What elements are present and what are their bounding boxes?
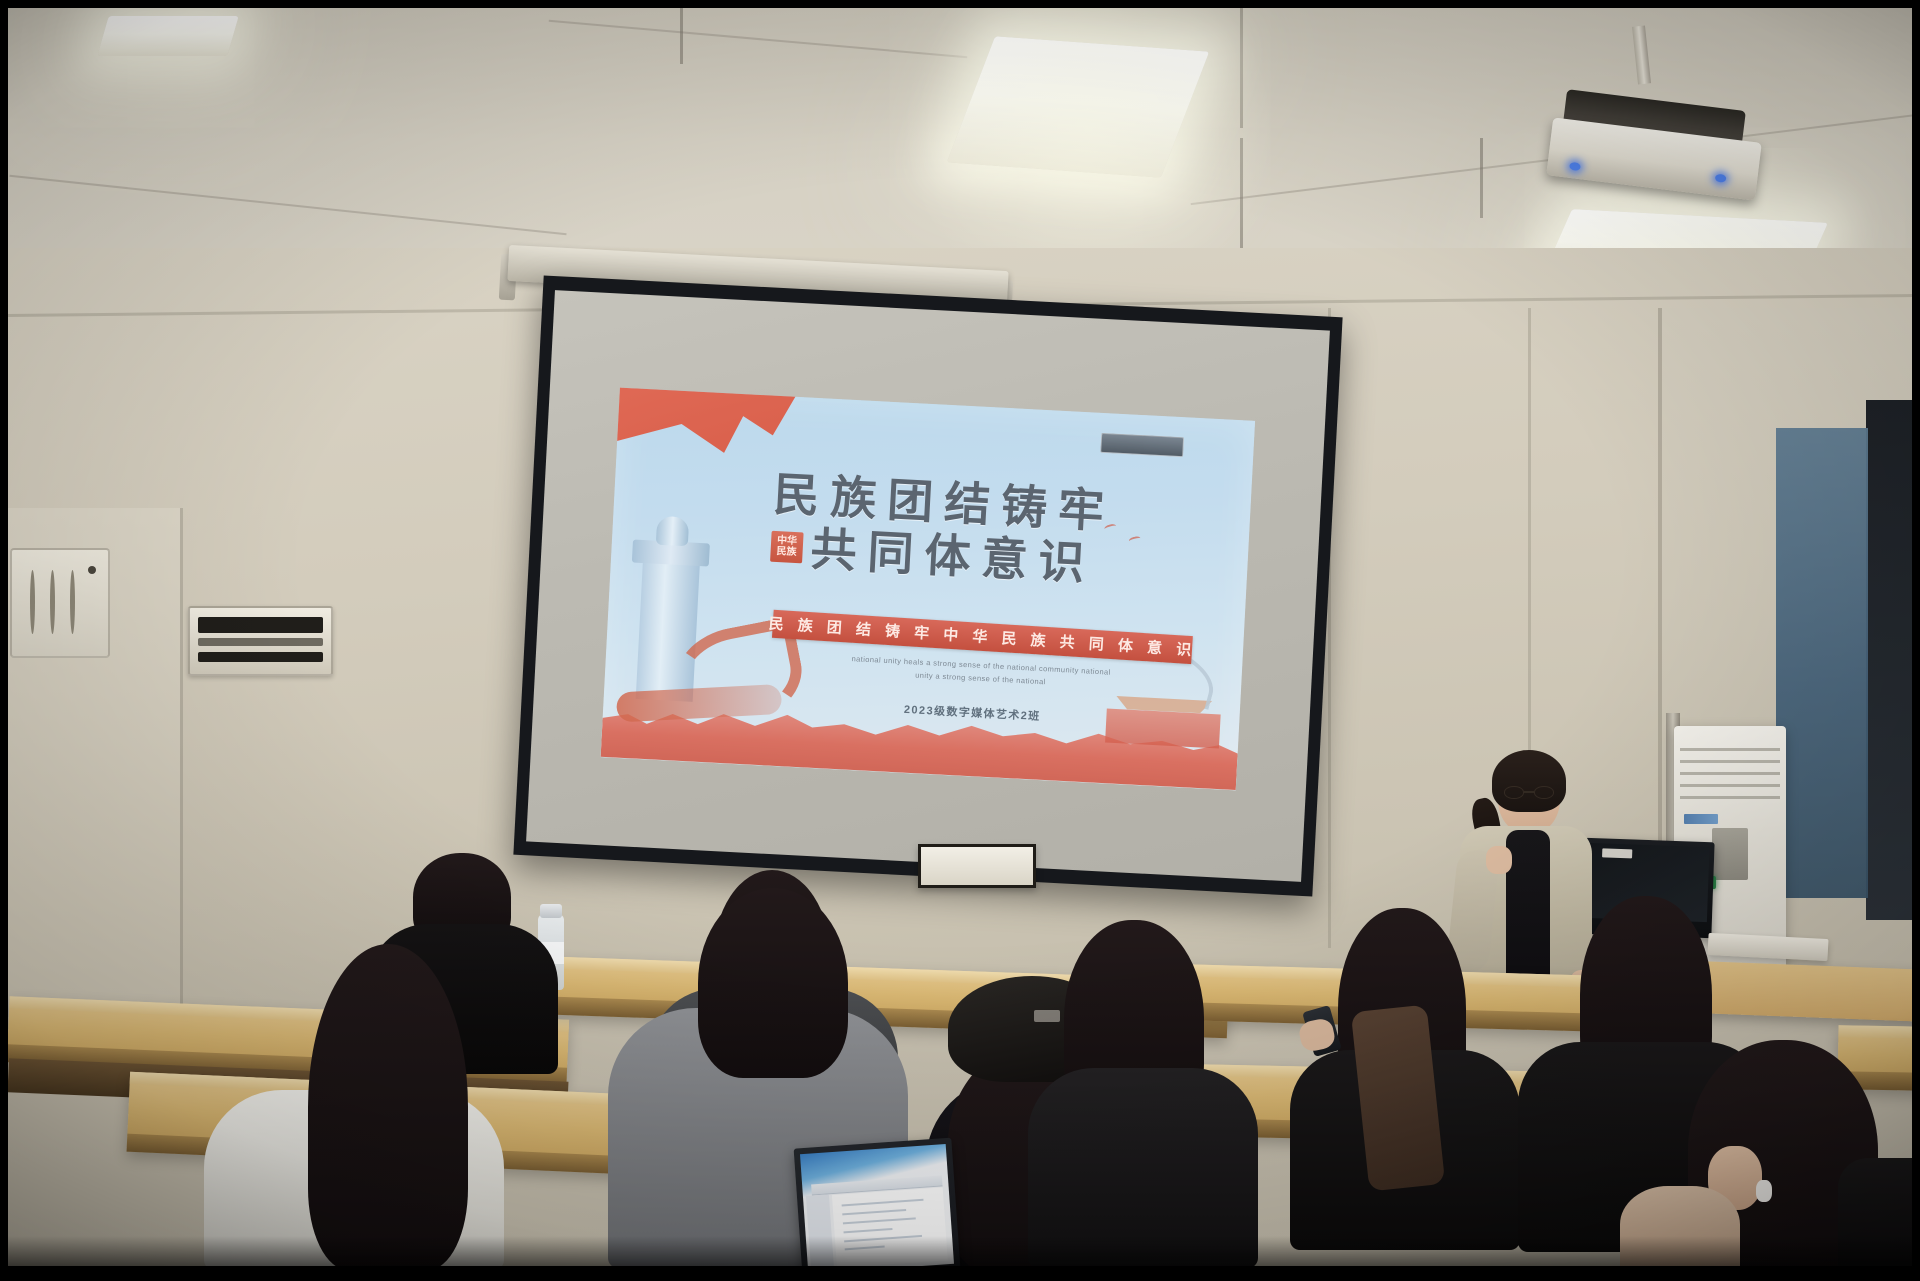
ac-vent [1680,796,1780,799]
glasses-lens-right [1534,786,1554,799]
glasses-icon [1504,786,1554,799]
doc-line [842,1199,924,1207]
projected-slide: 民族团结铸牢 中华 民族 共同体意识 民 族 团 结 铸 牢 中 华 民 族 共… [600,387,1255,790]
wall-control-panel[interactable] [188,606,333,676]
ac-vent [1680,748,1780,751]
control-slot [198,617,323,633]
ac-vent [1680,760,1780,763]
bottle-cap [540,904,562,918]
wall-sign [10,548,110,658]
wave-icon [30,570,35,634]
monitor-brand-label [1602,848,1632,858]
doc-line [844,1228,893,1233]
wall-poster [918,844,1036,888]
control-slot [198,638,323,646]
desk-edge [1838,1025,1912,1039]
wave-icon [70,570,75,634]
projector-led-icon [1569,162,1581,171]
ceiling-light [97,16,238,56]
presenter-hair [1492,750,1566,812]
wave-icon [50,570,55,634]
projection-screen: 民族团结铸牢 中华 民族 共同体意识 民 族 团 结 铸 牢 中 华 民 族 共… [513,275,1342,896]
ac-vent [1680,784,1780,787]
control-slot [198,652,323,662]
ac-vent [1680,772,1780,775]
classroom-photo: 民族团结铸牢 中华 民族 共同体意识 民 族 团 结 铸 牢 中 华 民 族 共… [8,8,1912,1266]
light-rod [1480,138,1483,218]
projector-led-icon [1715,174,1727,183]
earbud-icon [1756,1180,1772,1202]
slide-title-block: 民族团结铸牢 中华 民族 共同体意识 [769,470,1232,595]
student-hair [308,944,468,1266]
slide-header-chip [1101,433,1185,458]
window-frame [1866,400,1912,920]
doc-line [843,1217,916,1224]
doc-line [842,1209,906,1215]
slide-class-text: 2023级数字媒体艺术2班 [807,695,1138,728]
badge-line2: 民族 [776,547,797,559]
glasses-bridge [1524,791,1534,793]
window-curtain [1776,428,1868,898]
presenter-hand [1486,846,1512,874]
screen-surface: 民族团结铸牢 中华 民族 共同体意识 民 族 团 结 铸 牢 中 华 民 族 共… [526,290,1330,882]
glasses-lens-left [1504,786,1524,799]
nation-badge: 中华 民族 [770,531,804,564]
foreground-shadow [8,1236,1912,1266]
ac-brand-logo-icon [1684,814,1718,824]
ac-display-panel [1712,828,1748,880]
cap-logo-icon [1034,1010,1060,1022]
pillar-top-illustration [656,515,689,546]
screenshot-root: 民族团结铸牢 中华 民族 共同体意识 民 族 团 结 铸 牢 中 华 民 族 共… [0,0,1920,1281]
light-rod [1240,8,1243,128]
light-rod [680,8,683,64]
sign-dot-icon [88,566,96,574]
flag-graphic-icon [602,387,798,496]
student-hair [698,888,848,1078]
